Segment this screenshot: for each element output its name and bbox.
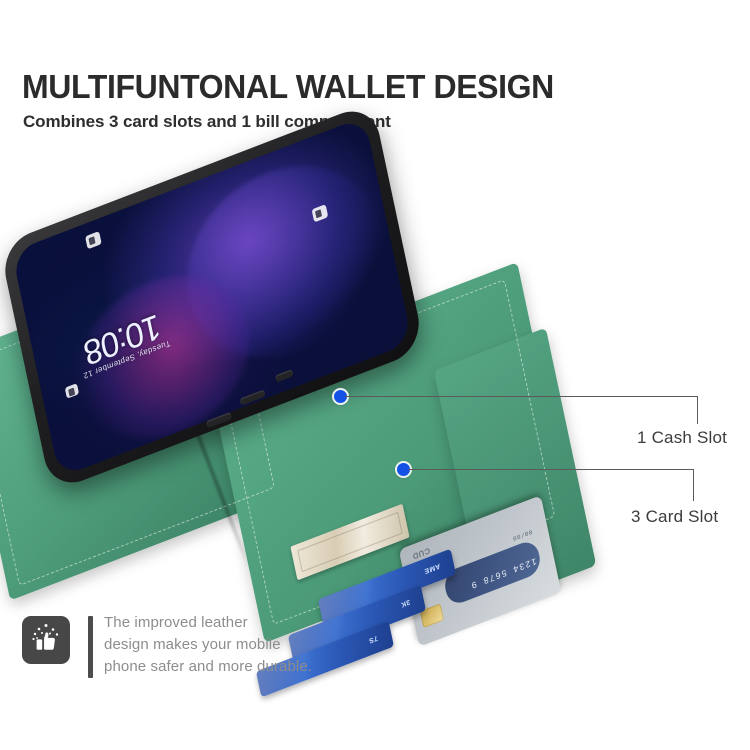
product-marketing-image: MULTIFUNTONAL WALLET DESIGN Combines 3 c… [0, 0, 750, 750]
card-slot-mark: 3K [400, 598, 411, 608]
page-title: MULTIFUNTONAL WALLET DESIGN [22, 68, 554, 106]
callout-leader-line [345, 396, 698, 397]
card-slot-mark: AME [423, 562, 440, 575]
thumbs-up-icon [22, 616, 70, 664]
credit-card-expiry: 00/00 [512, 528, 533, 542]
callout-leader-line [693, 469, 694, 501]
feature-line: The improved leather [104, 612, 414, 634]
product-photo: Tuesday, September 12 10:08 1234 5678 9 … [0, 170, 660, 590]
wallet-case-illustration: Tuesday, September 12 10:08 1234 5678 9 … [0, 170, 660, 590]
feature-description: The improved leather design makes your m… [104, 612, 414, 678]
callout-leader-line [408, 469, 694, 470]
callout-leader-line [697, 396, 698, 424]
feature-line: design makes your mobile [104, 634, 414, 656]
feature-block: The improved leather design makes your m… [22, 612, 422, 694]
callout-label-card-slot: 3 Card Slot [631, 507, 718, 527]
lock-icon [65, 383, 79, 399]
flashlight-icon [85, 231, 102, 249]
feature-line: phone safer and more durable. [104, 656, 414, 678]
callout-label-cash-slot: 1 Cash Slot [637, 428, 727, 448]
feature-divider-bar [88, 616, 93, 678]
